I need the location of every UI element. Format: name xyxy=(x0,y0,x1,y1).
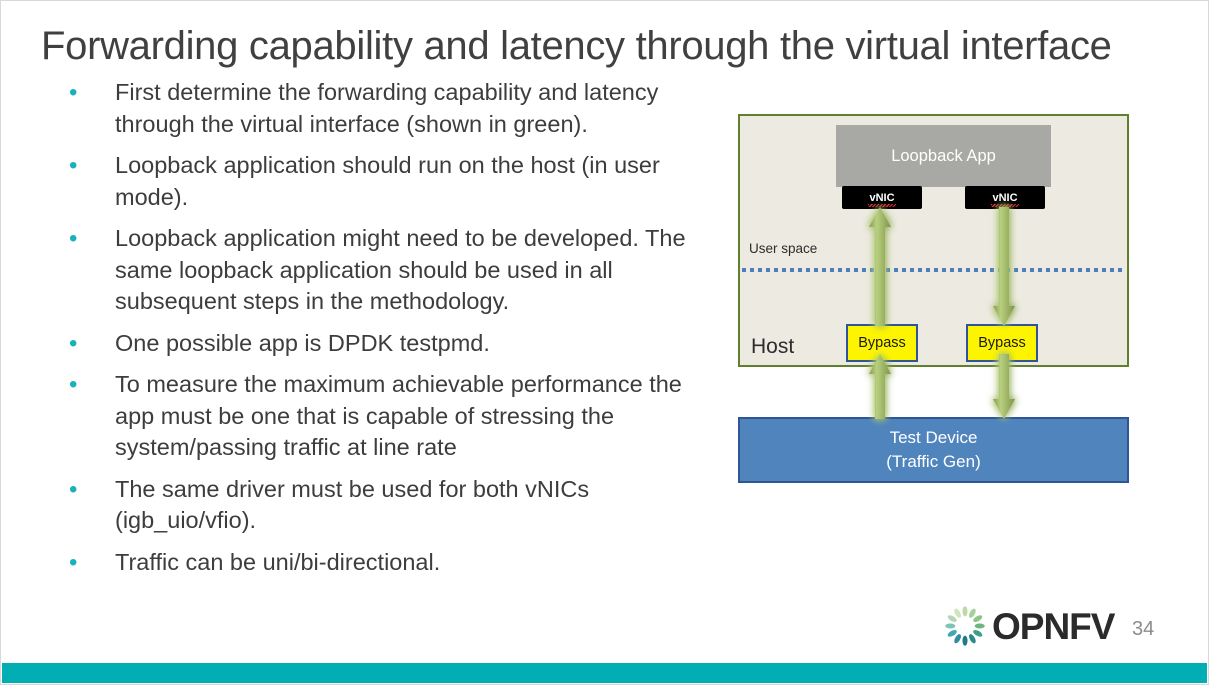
bullet-marker-icon: • xyxy=(63,474,115,505)
opnfv-flower-icon xyxy=(942,603,988,649)
bypass-box-left: Bypass xyxy=(846,324,918,362)
bullet-marker-icon: • xyxy=(63,150,115,181)
test-device-box: Test Device (Traffic Gen) xyxy=(738,417,1129,483)
loopback-app-label: Loopback App xyxy=(891,147,996,166)
list-item: • Loopback application should run on the… xyxy=(63,150,713,213)
list-item-text: Loopback application should run on the h… xyxy=(115,150,713,213)
user-kernel-divider xyxy=(742,268,1125,272)
host-boundary-box: Loopback App vNIC vNIC User space Host B… xyxy=(738,114,1129,367)
test-device-line1: Test Device xyxy=(890,426,978,450)
bullet-marker-icon: • xyxy=(63,223,115,254)
bypass-box-right: Bypass xyxy=(966,324,1038,362)
user-space-label: User space xyxy=(749,241,817,256)
list-item: • The same driver must be used for both … xyxy=(63,474,713,537)
host-label: Host xyxy=(751,335,794,359)
list-item: • Traffic can be uni/bi-directional. xyxy=(63,547,713,579)
list-item-text: The same driver must be used for both vN… xyxy=(115,474,713,537)
list-item-text: To measure the maximum achievable perfor… xyxy=(115,369,713,464)
opnfv-wordmark: OPNFV xyxy=(992,608,1114,645)
test-device-line2: (Traffic Gen) xyxy=(886,450,980,474)
bypass-label: Bypass xyxy=(978,335,1026,351)
bullet-marker-icon: • xyxy=(63,547,115,578)
accent-bar xyxy=(2,663,1207,683)
list-item: • First determine the forwarding capabil… xyxy=(63,77,713,140)
page-title: Forwarding capability and latency throug… xyxy=(41,21,1151,71)
bullet-list: • First determine the forwarding capabil… xyxy=(63,77,713,588)
vnic-label: vNIC xyxy=(992,192,1017,204)
loopback-app-box: Loopback App xyxy=(836,125,1051,187)
bullet-marker-icon: • xyxy=(63,77,115,108)
bullet-marker-icon: • xyxy=(63,369,115,400)
list-item-text: One possible app is DPDK testpmd. xyxy=(115,328,713,360)
opnfv-logo: OPNFV xyxy=(942,603,1114,649)
list-item-text: Traffic can be uni/bi-directional. xyxy=(115,547,713,579)
list-item: • Loopback application might need to be … xyxy=(63,223,713,318)
list-item: • To measure the maximum achievable perf… xyxy=(63,369,713,464)
vnic-box-right: vNIC xyxy=(965,186,1045,209)
list-item: • One possible app is DPDK testpmd. xyxy=(63,328,713,360)
slide: Forwarding capability and latency throug… xyxy=(0,0,1209,685)
list-item-text: First determine the forwarding capabilit… xyxy=(115,77,713,140)
page-number: 34 xyxy=(1132,618,1154,641)
list-item-text: Loopback application might need to be de… xyxy=(115,223,713,318)
bullet-marker-icon: • xyxy=(63,328,115,359)
vnic-box-left: vNIC xyxy=(842,186,922,209)
architecture-diagram: Loopback App vNIC vNIC User space Host B… xyxy=(738,114,1134,486)
bypass-label: Bypass xyxy=(858,335,906,351)
vnic-label: vNIC xyxy=(869,192,894,204)
